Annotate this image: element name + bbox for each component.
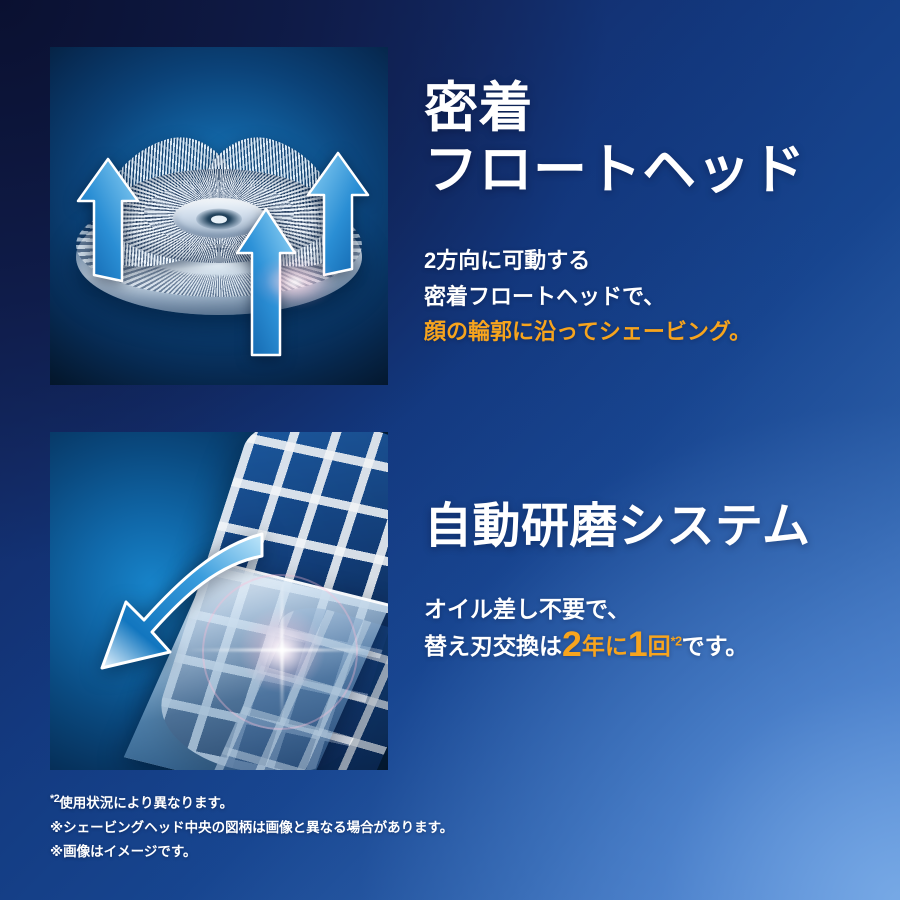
- body-unit-years: 年に: [582, 633, 628, 659]
- body-number-times: 1: [628, 624, 648, 664]
- feature-headline: 密着 フロートヘッド: [424, 78, 876, 201]
- body-line: 2方向に可動する: [424, 243, 876, 279]
- footnote-item: *2使用状況により異なります。: [50, 790, 650, 816]
- footnote-item: ※シェービングヘッド中央の図柄は画像と異なる場合があります。: [50, 816, 650, 840]
- footnote-marker: *2: [50, 793, 59, 805]
- feature-text-float-head: 密着 フロートヘッド 2方向に可動する 密着フロートヘッドで、 顔の輪郭に沿って…: [424, 78, 876, 350]
- body-line: 密着フロートヘッドで、: [424, 279, 876, 315]
- feature-page: 密着 フロートヘッド 2方向に可動する 密着フロートヘッドで、 顔の輪郭に沿って…: [0, 0, 900, 900]
- feature-image-float-head: [50, 47, 388, 385]
- arrow-up-icon: [235, 207, 297, 357]
- footnote-text: ※画像はイメージです。: [50, 844, 197, 859]
- body-unit-times: 回: [648, 633, 671, 659]
- body-line: オイル差し不要で、: [424, 591, 876, 628]
- feature-image-blade-grid: [50, 432, 388, 770]
- footnote-item: ※画像はイメージです。: [50, 840, 650, 864]
- body-prefix: 替え刃交換は: [424, 633, 562, 659]
- body-number-years: 2: [562, 624, 582, 664]
- feature-body: オイル差し不要で、 替え刃交換は2年に1回*2です。: [424, 591, 876, 666]
- headline-line-2: フロートヘッド: [424, 140, 806, 200]
- footnote-marker: *2: [671, 634, 682, 648]
- arrow-up-icon: [76, 157, 140, 283]
- headline-line-1: 密着: [424, 78, 533, 138]
- footnotes: *2使用状況により異なります。 ※シェービングヘッド中央の図柄は画像と異なる場合…: [50, 790, 650, 864]
- feature-headline: 自動研磨システム: [424, 500, 876, 555]
- body-line-mixed: 替え刃交換は2年に1回*2です。: [424, 628, 876, 665]
- sparkle-icon: [212, 580, 352, 720]
- body-line-highlight: 顔の輪郭に沿ってシェービング。: [424, 314, 876, 350]
- footnote-text: 使用状況により異なります。: [59, 796, 233, 811]
- footnote-text: ※シェービングヘッド中央の図柄は画像と異なる場合があります。: [50, 820, 453, 835]
- arrow-up-icon: [306, 151, 370, 277]
- feature-body: 2方向に可動する 密着フロートヘッドで、 顔の輪郭に沿ってシェービング。: [424, 243, 876, 350]
- feature-text-auto-sharpening: 自動研磨システム オイル差し不要で、 替え刃交換は2年に1回*2です。: [424, 500, 876, 665]
- body-suffix: です。: [682, 633, 749, 659]
